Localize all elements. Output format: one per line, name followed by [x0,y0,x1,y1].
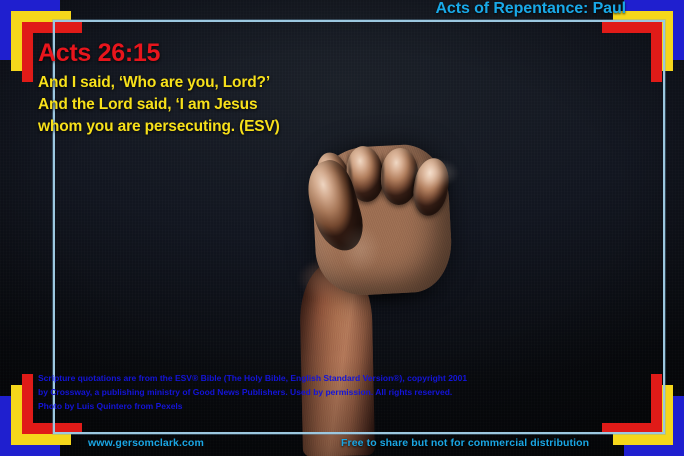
verse-line-1: And I said, ‘Who are you, Lord?’ [38,72,398,94]
top-title-bar: Acts of Repentance: Paul [0,0,684,20]
footer-website-link[interactable]: www.gersomclark.com [88,437,204,449]
footer-license-note: Free to share but not for commercial dis… [341,437,589,449]
bracket-red [602,22,662,82]
verse-line-3: whom you are persecuting. (ESV) [38,116,398,138]
credit-line-1: Scripture quotations are from the ESV® B… [38,372,638,386]
credits-block: Scripture quotations are from the ESV® B… [38,372,638,413]
scripture-reference: Acts 26:15 [38,40,398,66]
credit-line-3: Photo by Luis Quintero from Pexels [38,400,638,414]
verse-line-2: And the Lord said, ‘I am Jesus [38,94,398,116]
presentation-slide: Acts of Repentance: Paul Acts 26:15 And … [0,0,684,456]
series-title: Acts of Repentance: Paul [435,0,626,18]
credit-line-2: by Crossway, a publishing ministry of Go… [38,386,638,400]
scripture-block: Acts 26:15 And I said, ‘Who are you, Lor… [38,40,398,138]
